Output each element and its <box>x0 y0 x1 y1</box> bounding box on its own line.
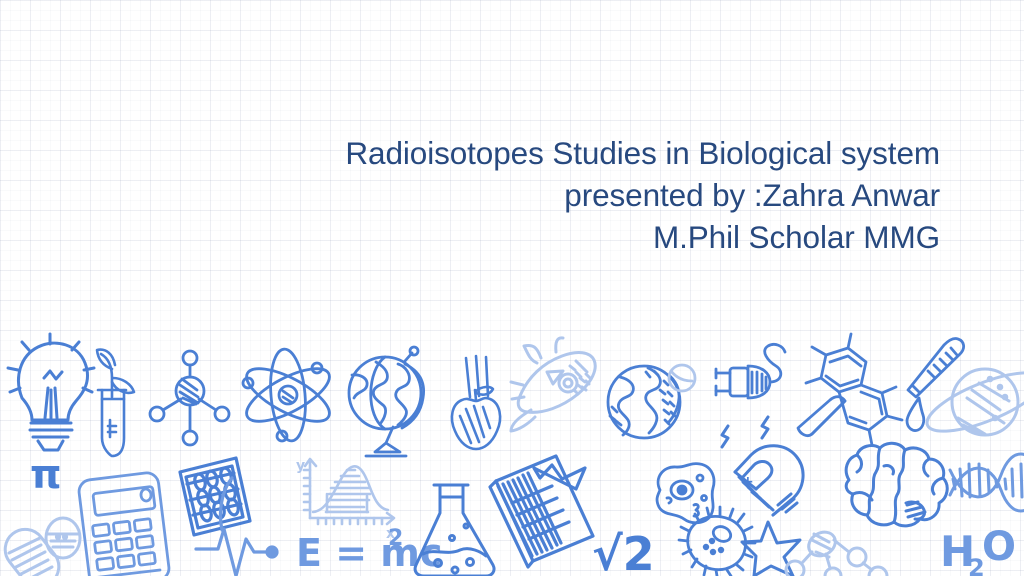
science-doodle-border: π <box>0 0 1024 576</box>
molecule-chain-icon <box>786 527 887 576</box>
emc2-formula: E = mc <box>296 531 442 575</box>
doodle-canvas: π <box>0 0 1024 576</box>
atom-icon <box>239 348 336 443</box>
water-subscript: 2 <box>968 554 985 576</box>
star-small-icon <box>742 522 800 576</box>
amoeba-cell-icon <box>657 464 714 523</box>
benzene-ring-icon <box>806 334 902 445</box>
star-icon <box>742 522 800 576</box>
saturn-planet-icon <box>920 361 1024 443</box>
lightbulb-icon <box>8 334 94 450</box>
water-oxygen: O <box>982 524 1016 570</box>
slide-title-block: Radioisotopes Studies in Biological syst… <box>260 132 940 258</box>
calculator-icon <box>78 472 171 576</box>
slide-title-line-2: presented by :Zahra Anwar <box>260 174 940 216</box>
molecule-icon <box>150 351 229 445</box>
heartbeat-icon <box>196 478 277 576</box>
falling-apple-icon <box>452 356 500 449</box>
rocket-icon <box>511 338 595 431</box>
globe-stand-icon <box>349 347 424 456</box>
notebook-icon <box>490 456 593 567</box>
brain-icon <box>846 443 947 526</box>
graph-axis-x: x <box>386 526 395 542</box>
pipette-drop-icon <box>907 338 964 430</box>
battery-plus: + <box>742 474 754 490</box>
slide-title-line-1: Radioisotopes Studies in Biological syst… <box>260 132 940 174</box>
abacus-icon <box>180 458 250 535</box>
battery-icon <box>798 397 845 436</box>
pills-icon <box>0 518 80 576</box>
earth-icon <box>608 366 680 438</box>
dna-helix-icon <box>950 454 1024 511</box>
graph-axis-y: y <box>296 458 305 474</box>
bacteria-icon <box>679 507 755 576</box>
pi-symbol: π <box>30 452 62 498</box>
slide-title-line-3: M.Phil Scholar MMG <box>260 216 940 258</box>
erlenmeyer-flask-icon <box>415 485 494 576</box>
bell-curve-graph-icon: y x <box>296 458 395 542</box>
moon-icon <box>669 365 695 391</box>
emc2-exponent: 2 <box>388 526 403 551</box>
sqrt-two: √2 <box>592 527 655 576</box>
water-formula: H <box>940 527 975 576</box>
power-plug-icon <box>716 344 785 398</box>
magnet-icon: + <box>722 417 803 515</box>
plant-test-tube-icon <box>97 350 134 456</box>
presentation-slide: Radioisotopes Studies in Biological syst… <box>0 0 1024 576</box>
